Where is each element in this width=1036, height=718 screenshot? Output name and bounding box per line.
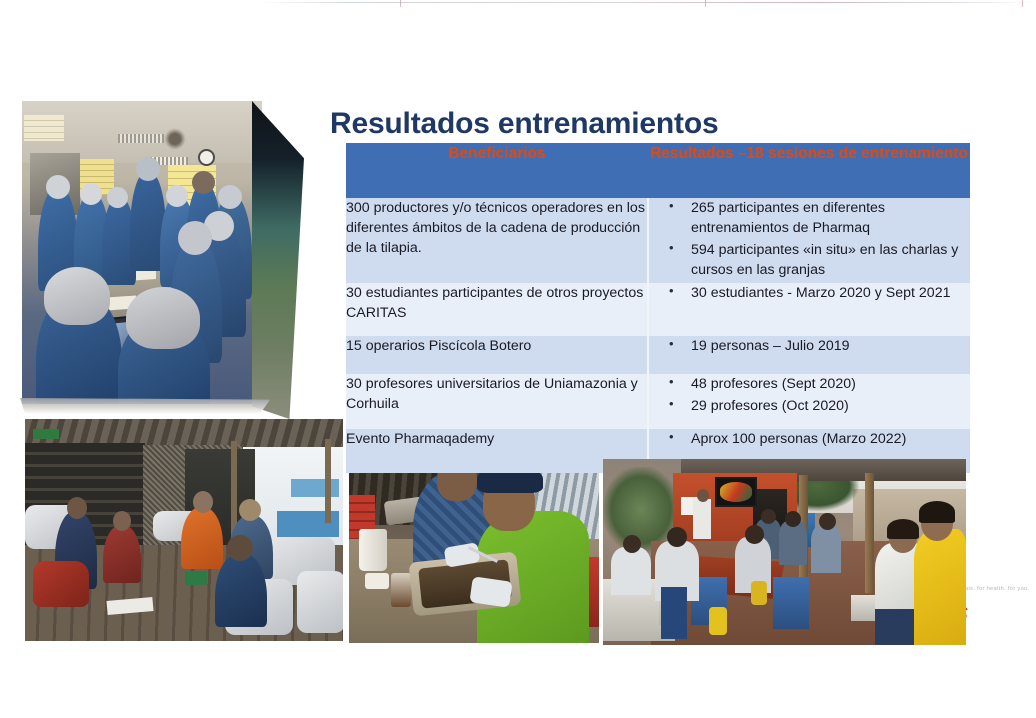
cup-shape bbox=[359, 529, 387, 571]
cell-beneficiarios: 30 profesores universitarios de Uniamazo… bbox=[346, 374, 648, 429]
post-shape bbox=[325, 439, 331, 523]
head-shape bbox=[136, 157, 160, 181]
photo-training-room bbox=[22, 101, 262, 404]
wall-clock-shape bbox=[198, 149, 215, 166]
head-shape bbox=[227, 535, 253, 561]
boot-shape bbox=[751, 581, 767, 605]
table-row: 30 profesores universitarios de Uniamazo… bbox=[346, 374, 970, 429]
exit-sign-shape bbox=[33, 429, 59, 439]
table-row: 300 productores y/o técnicos operadores … bbox=[346, 198, 970, 283]
page-title: Resultados entrenamientos bbox=[330, 107, 718, 141]
bullet-item: Aprox 100 personas (Marzo 2022) bbox=[663, 429, 964, 449]
head-shape bbox=[218, 185, 242, 209]
head-shape bbox=[785, 511, 801, 527]
person-shape bbox=[103, 525, 141, 583]
feed-sack-shape bbox=[297, 571, 343, 633]
results-table: Beneficiarios Resultados –18 sesiones de… bbox=[346, 143, 970, 473]
hair-shape bbox=[887, 519, 919, 539]
cell-beneficiarios: 30 estudiantes participantes de otros pr… bbox=[346, 283, 648, 336]
head-shape bbox=[44, 267, 110, 325]
bullet-item: 265 participantes en diferentes entrenam… bbox=[663, 198, 964, 238]
head-shape bbox=[67, 497, 87, 519]
red-bag-shape bbox=[33, 561, 89, 607]
table-row: 15 operarios Piscícola Botero19 personas… bbox=[346, 336, 970, 374]
table-head: Beneficiarios Resultados –18 sesiones de… bbox=[346, 143, 970, 198]
table-row: 30 estudiantes participantes de otros pr… bbox=[346, 283, 970, 336]
person-shape bbox=[811, 525, 841, 573]
jar-lid-shape bbox=[365, 573, 389, 589]
cell-resultados: 265 participantes en diferentes entrenam… bbox=[648, 198, 970, 283]
bullet-item: 30 estudiantes - Marzo 2020 y Sept 2021 bbox=[663, 283, 964, 303]
photo-training-room-bottom-edge bbox=[20, 398, 270, 414]
column-header-beneficiarios: Beneficiarios bbox=[346, 143, 648, 198]
head-shape bbox=[107, 187, 128, 208]
bullet-item: 594 participantes «in situ» en las charl… bbox=[663, 240, 964, 280]
bullet-item: 48 profesores (Sept 2020) bbox=[663, 374, 964, 394]
person-shape bbox=[181, 507, 223, 569]
head-shape bbox=[80, 183, 102, 205]
photo-necropsy bbox=[349, 453, 599, 643]
head-shape bbox=[761, 509, 776, 524]
bullet-list: 265 participantes en diferentes entrenam… bbox=[663, 198, 964, 281]
person-shape bbox=[779, 521, 807, 565]
bullet-item: 29 profesores (Oct 2020) bbox=[663, 396, 964, 416]
bullet-list: 48 profesores (Sept 2020)29 profesores (… bbox=[663, 374, 964, 416]
head-shape bbox=[623, 535, 641, 553]
scan-artifact-line bbox=[260, 2, 1036, 3]
blue-chair-shape bbox=[773, 577, 809, 629]
cell-resultados: 48 profesores (Sept 2020)29 profesores (… bbox=[648, 374, 970, 429]
head-shape bbox=[192, 171, 215, 194]
head-shape bbox=[819, 513, 836, 530]
head-shape bbox=[46, 175, 70, 199]
head-shape bbox=[113, 511, 131, 531]
head-shape bbox=[667, 527, 687, 547]
head-shape bbox=[697, 489, 709, 502]
presenter-shape bbox=[693, 499, 711, 539]
bullet-item: 19 personas – Julio 2019 bbox=[663, 336, 964, 356]
head-shape bbox=[745, 525, 764, 544]
bullet-list: Aprox 100 personas (Marzo 2022) bbox=[663, 429, 964, 449]
hair-shape bbox=[919, 501, 955, 523]
head-shape bbox=[239, 499, 261, 521]
column-header-resultados: Resultados –18 sesiones de entrenamiento bbox=[648, 143, 970, 198]
table-body: 300 productores y/o técnicos operadores … bbox=[346, 198, 970, 473]
wall-sign-shape bbox=[715, 477, 757, 507]
bullet-list: 30 estudiantes - Marzo 2020 y Sept 2021 bbox=[663, 283, 964, 303]
head-shape bbox=[126, 287, 200, 349]
ceiling-fan-shape bbox=[164, 128, 186, 150]
photo-farm-shed bbox=[25, 419, 343, 641]
post-shape bbox=[865, 473, 874, 593]
table-header-row: Beneficiarios Resultados –18 sesiones de… bbox=[346, 143, 970, 198]
legs-shape bbox=[875, 609, 919, 645]
legs-shape bbox=[661, 587, 687, 639]
photo-training-room-edge-wedge bbox=[252, 101, 304, 419]
cell-beneficiarios: 300 productores y/o técnicos operadores … bbox=[346, 198, 648, 283]
bullet-list: 19 personas – Julio 2019 bbox=[663, 336, 964, 356]
head-shape bbox=[193, 491, 213, 513]
scan-artifact-tick bbox=[400, 0, 401, 7]
head-shape bbox=[178, 221, 212, 255]
person-shape bbox=[215, 553, 267, 627]
green-box-shape bbox=[185, 571, 207, 585]
person-shape bbox=[914, 529, 966, 645]
boot-shape bbox=[709, 607, 727, 635]
blue-roof-shape bbox=[291, 479, 339, 497]
head-shape bbox=[166, 185, 188, 207]
scan-artifact-tick bbox=[1022, 0, 1023, 7]
vent-shape bbox=[118, 134, 164, 143]
scan-artifact-tick bbox=[705, 0, 706, 7]
window-shape bbox=[24, 115, 64, 141]
person-shape bbox=[611, 547, 651, 595]
cell-resultados: 19 personas – Julio 2019 bbox=[648, 336, 970, 374]
cell-resultados: 30 estudiantes - Marzo 2020 y Sept 2021 bbox=[648, 283, 970, 336]
glove-shape bbox=[469, 576, 512, 607]
sample-jar-shape bbox=[391, 573, 411, 607]
cell-beneficiarios: 15 operarios Piscícola Botero bbox=[346, 336, 648, 374]
photo-outdoor-talk bbox=[603, 459, 966, 645]
